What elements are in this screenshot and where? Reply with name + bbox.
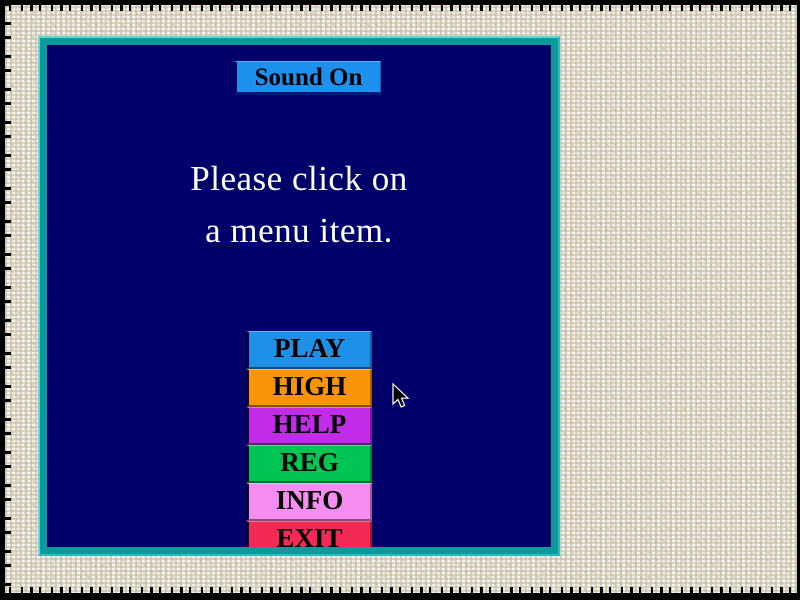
arrow-pointer-icon	[392, 383, 410, 411]
menu-button-high[interactable]: HIGH	[246, 369, 372, 407]
game-screen: Sound On Please click on a menu item. PL…	[0, 0, 800, 600]
sound-toggle-button[interactable]: Sound On	[233, 61, 381, 95]
menu-button-reg[interactable]: REG	[246, 445, 372, 483]
main-menu: PLAY HIGH HELP REG INFO EXIT	[246, 331, 372, 547]
sound-toggle-label: Sound On	[255, 65, 363, 90]
game-panel: Sound On Please click on a menu item. PL…	[47, 45, 551, 547]
menu-button-exit[interactable]: EXIT	[246, 521, 372, 547]
page-trim-top	[0, 0, 800, 5]
menu-button-help[interactable]: HELP	[246, 407, 372, 445]
instruction-message: Please click on a menu item.	[47, 153, 551, 257]
game-panel-frame: Sound On Please click on a menu item. PL…	[38, 36, 560, 556]
menu-button-play[interactable]: PLAY	[246, 331, 372, 369]
instruction-line-1: Please click on	[47, 153, 551, 205]
page-trim-left	[0, 0, 5, 600]
instruction-line-2: a menu item.	[47, 205, 551, 257]
page-trim-bottom	[0, 593, 800, 600]
menu-button-info[interactable]: INFO	[246, 483, 372, 521]
